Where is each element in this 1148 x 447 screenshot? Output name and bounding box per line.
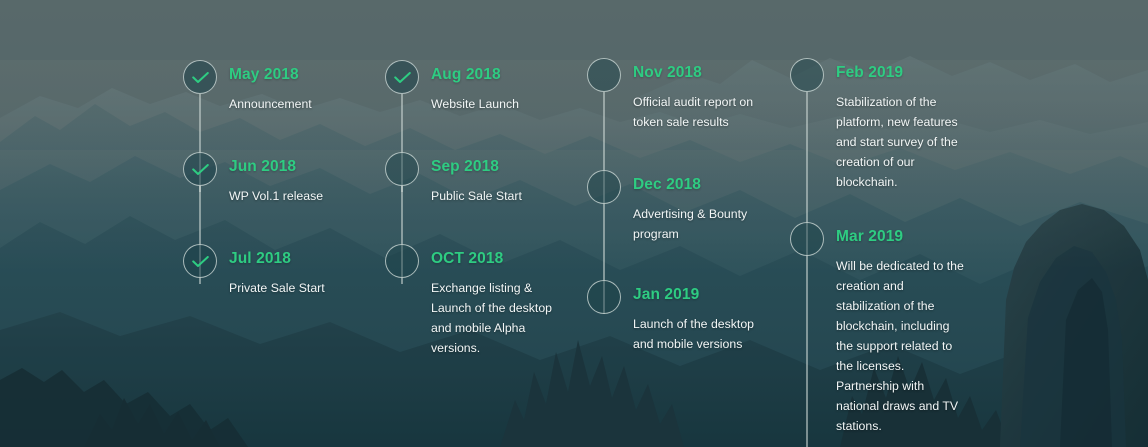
milestone-description-line: and mobile versions — [633, 334, 754, 354]
milestone-date-label: Jul 2018 — [229, 250, 291, 268]
check-icon — [192, 72, 209, 83]
milestone-description-line: the licenses. — [836, 356, 964, 376]
milestone-description-line: Stabilization of the — [836, 92, 958, 112]
milestone-description-line: token sale results — [633, 112, 753, 132]
milestone-description: Private Sale Start — [229, 278, 325, 298]
milestone-circle-completed[interactable] — [183, 152, 217, 186]
milestone-date-label: May 2018 — [229, 66, 299, 84]
milestone-description: Public Sale Start — [431, 186, 522, 206]
milestone-date-label: Sep 2018 — [431, 158, 499, 176]
milestone-circle-pending[interactable] — [385, 244, 419, 278]
milestone-description-line: Website Launch — [431, 94, 519, 114]
milestone-description-line: WP Vol.1 release — [229, 186, 323, 206]
milestone-circle-pending[interactable] — [790, 58, 824, 92]
timeline-connector-line — [806, 256, 808, 447]
milestone-date-label: Jun 2018 — [229, 158, 296, 176]
check-icon — [394, 72, 411, 83]
milestone-description-line: Private Sale Start — [229, 278, 325, 298]
milestone-description-line: stabilization of the — [836, 296, 964, 316]
milestone-date-label: OCT 2018 — [431, 250, 503, 268]
milestone-description-line: Announcement — [229, 94, 312, 114]
milestone-description-line: Advertising & Bounty — [633, 204, 747, 224]
milestone-description-line: versions. — [431, 338, 552, 358]
milestone-description-line: program — [633, 224, 747, 244]
milestone-description-line: Official audit report on — [633, 92, 753, 112]
milestone-description: Will be dedicated to thecreation andstab… — [836, 256, 964, 436]
milestone-description: WP Vol.1 release — [229, 186, 323, 206]
milestone-description-line: creation of our — [836, 152, 958, 172]
milestone-circle-pending[interactable] — [790, 222, 824, 256]
milestone-circle-pending[interactable] — [587, 58, 621, 92]
milestone-circle-pending[interactable] — [587, 280, 621, 314]
milestone-description-line: Launch of the desktop — [431, 298, 552, 318]
milestone-description-line: and mobile Alpha — [431, 318, 552, 338]
milestone-circle-completed[interactable] — [385, 60, 419, 94]
milestone-date-label: Feb 2019 — [836, 64, 903, 82]
milestone-circle-pending[interactable] — [385, 152, 419, 186]
milestone-circle-completed[interactable] — [183, 60, 217, 94]
milestone-date-label: Aug 2018 — [431, 66, 501, 84]
milestone-description: Advertising & Bountyprogram — [633, 204, 747, 244]
milestone-description-line: blockchain. — [836, 172, 958, 192]
milestone-description-line: Exchange listing & — [431, 278, 552, 298]
milestone-description: Launch of the desktopand mobile versions — [633, 314, 754, 354]
milestone-description: Stabilization of theplatform, new featur… — [836, 92, 958, 192]
milestone-circle-pending[interactable] — [587, 170, 621, 204]
milestone-description-line: Public Sale Start — [431, 186, 522, 206]
milestone-date-label: Mar 2019 — [836, 228, 903, 246]
milestone-description-line: and start survey of the — [836, 132, 958, 152]
milestone-description-line: the support related to — [836, 336, 964, 356]
milestone-description: Exchange listing &Launch of the desktopa… — [431, 278, 552, 358]
roadmap-timeline: May 2018AnnouncementJun 2018WP Vol.1 rel… — [0, 0, 1148, 447]
milestone-description-line: Will be dedicated to the — [836, 256, 964, 276]
milestone-description-line: platform, new features — [836, 112, 958, 132]
milestone-date-label: Nov 2018 — [633, 64, 702, 82]
milestone-description: Official audit report ontoken sale resul… — [633, 92, 753, 132]
milestone-circle-completed[interactable] — [183, 244, 217, 278]
check-icon — [192, 256, 209, 267]
milestone-description-line: Partnership with — [836, 376, 964, 396]
milestone-date-label: Dec 2018 — [633, 176, 701, 194]
milestone-description-line: Launch of the desktop — [633, 314, 754, 334]
milestone-description-line: blockchain, including — [836, 316, 964, 336]
milestone-description-line: creation and — [836, 276, 964, 296]
milestone-description: Website Launch — [431, 94, 519, 114]
milestone-date-label: Jan 2019 — [633, 286, 699, 304]
milestone-description-line: national draws and TV — [836, 396, 964, 416]
milestone-description-line: stations. — [836, 416, 964, 436]
milestone-description: Announcement — [229, 94, 312, 114]
check-icon — [192, 164, 209, 175]
